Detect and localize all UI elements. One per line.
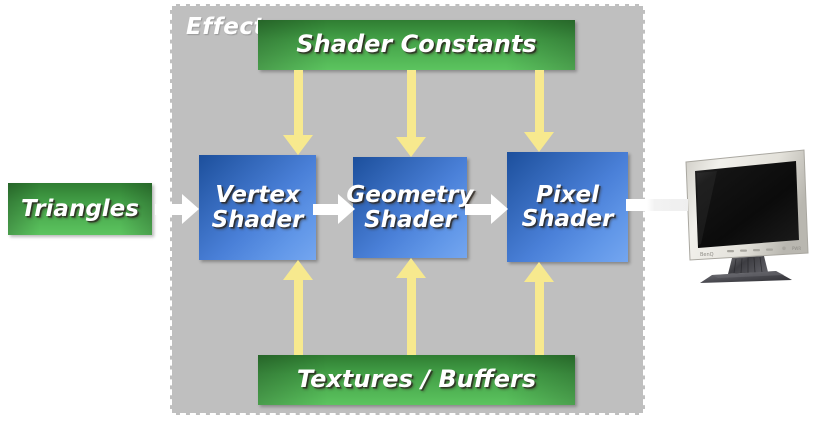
arrow-shaft bbox=[407, 277, 416, 355]
arrow-shaft bbox=[535, 70, 544, 133]
arrow-triangles-to-vertex-shader bbox=[155, 194, 201, 224]
arrow-vertex-to-geometry-shader bbox=[313, 194, 357, 224]
pixel-shader-box[interactable]: Pixel Shader bbox=[507, 152, 628, 262]
arrow-head-up-icon bbox=[396, 258, 426, 278]
vertex-shader-label: Vertex Shader bbox=[212, 183, 304, 231]
arrow-textures-to-vertex-shader bbox=[283, 260, 313, 355]
vertex-shader-box[interactable]: Vertex Shader bbox=[199, 155, 316, 260]
arrow-head-right-icon bbox=[491, 194, 508, 224]
arrow-head-down-icon bbox=[524, 132, 554, 152]
geometry-shader-label: Geometry Shader bbox=[346, 183, 473, 231]
arrow-constants-to-vertex-shader bbox=[283, 70, 313, 155]
arrow-head-right-icon bbox=[182, 194, 199, 224]
svg-text:BenQ: BenQ bbox=[700, 252, 714, 258]
arrow-constants-to-pixel-shader bbox=[524, 70, 554, 152]
pixel-shader-label: Pixel Shader bbox=[522, 183, 614, 231]
arrow-pixel-shader-to-display bbox=[626, 199, 688, 211]
arrow-geometry-to-pixel-shader bbox=[465, 194, 510, 224]
shader-constants-label: Shader Constants bbox=[296, 32, 536, 57]
arrow-shaft bbox=[313, 204, 339, 215]
arrow-textures-to-geometry-shader bbox=[396, 258, 426, 355]
effect-panel-label: Effect bbox=[186, 14, 265, 40]
arrow-shaft bbox=[465, 204, 492, 215]
arrow-head-up-icon bbox=[524, 262, 554, 282]
arrow-shaft bbox=[407, 70, 416, 138]
arrow-head-down-icon bbox=[396, 137, 426, 157]
geometry-shader-box[interactable]: Geometry Shader bbox=[353, 157, 467, 258]
arrow-shaft bbox=[535, 281, 544, 355]
shader-constants-box[interactable]: Shader Constants bbox=[258, 20, 575, 70]
textures-buffers-label: Textures / Buffers bbox=[297, 367, 536, 392]
arrow-head-down-icon bbox=[283, 135, 313, 155]
arrow-head-right-icon bbox=[338, 194, 355, 224]
arrow-textures-to-pixel-shader bbox=[524, 262, 554, 355]
monitor-icon: BenQ PWR bbox=[672, 144, 820, 284]
arrow-constants-to-geometry-shader bbox=[396, 70, 426, 157]
arrow-head-up-icon bbox=[283, 260, 313, 280]
arrow-shaft bbox=[294, 70, 303, 136]
svg-text:PWR: PWR bbox=[792, 246, 801, 251]
diagram-canvas: Effect Triangles Shader Constants Textur… bbox=[0, 0, 826, 423]
textures-buffers-box[interactable]: Textures / Buffers bbox=[258, 355, 575, 405]
arrow-shaft bbox=[294, 279, 303, 355]
triangles-label: Triangles bbox=[21, 197, 139, 221]
arrow-shaft bbox=[155, 204, 183, 215]
triangles-box[interactable]: Triangles bbox=[8, 183, 152, 235]
